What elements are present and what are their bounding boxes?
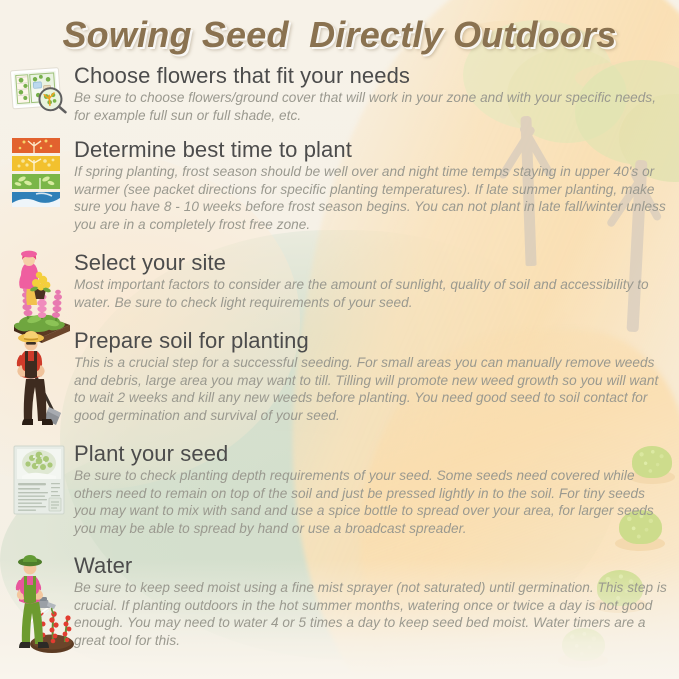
step-icon-slot bbox=[8, 327, 74, 437]
step-body: Be sure to choose flowers/ground cover t… bbox=[74, 89, 667, 125]
spring-bar bbox=[12, 174, 60, 189]
page-title: Sowing Seed Directly Outdoors bbox=[62, 14, 616, 56]
step-icon-slot bbox=[8, 249, 74, 327]
step-icon-slot bbox=[8, 440, 74, 550]
step-heading: Water bbox=[74, 554, 667, 578]
winter-bar bbox=[12, 192, 60, 207]
step-body: If spring planting, frost season should … bbox=[74, 163, 667, 234]
step-text: Prepare soil for planting This is a cruc… bbox=[74, 327, 667, 425]
step-heading: Select your site bbox=[74, 251, 667, 275]
step-body: Most important factors to consider are t… bbox=[74, 276, 667, 312]
seed-packet-icon bbox=[8, 440, 70, 524]
step-heading: Prepare soil for planting bbox=[74, 329, 667, 353]
step-heading: Plant your seed bbox=[74, 442, 667, 466]
four-seasons-bars-icon bbox=[8, 136, 66, 216]
gardener-watering-icon bbox=[8, 552, 74, 656]
step-item-select-site: Select your site Most important factors … bbox=[0, 249, 679, 327]
flower-spike bbox=[52, 290, 62, 321]
step-body: Be sure to check planting depth requirem… bbox=[74, 467, 667, 538]
step-body: Be sure to keep seed moist using a fine … bbox=[74, 579, 667, 650]
summer-bar bbox=[12, 156, 60, 171]
step-icon-slot bbox=[8, 552, 74, 664]
step-text: Water Be sure to keep seed moist using a… bbox=[74, 552, 667, 650]
step-body: This is a crucial step for a successful … bbox=[74, 354, 667, 425]
infographic-poster: Sowing Seed Directly Outdoors bbox=[0, 0, 679, 679]
step-heading: Determine best time to plant bbox=[74, 138, 667, 162]
step-text: Determine best time to plant If spring p… bbox=[74, 136, 667, 234]
step-item-choose-flowers: Choose flowers that fit your needs Be su… bbox=[0, 62, 679, 136]
title-bar: Sowing Seed Directly Outdoors bbox=[0, 14, 679, 56]
step-item-best-time: Determine best time to plant If spring p… bbox=[0, 136, 679, 249]
step-item-plant-seed: Plant your seed Be sure to check plantin… bbox=[0, 440, 679, 552]
autumn-bar bbox=[12, 138, 60, 153]
step-item-water: Water Be sure to keep seed moist using a… bbox=[0, 552, 679, 667]
garden-plan-map-icon bbox=[8, 62, 70, 124]
step-icon-slot bbox=[8, 136, 74, 236]
step-heading: Choose flowers that fit your needs bbox=[74, 64, 667, 88]
steps-list: Choose flowers that fit your needs Be su… bbox=[0, 62, 679, 667]
step-text: Select your site Most important factors … bbox=[74, 249, 667, 311]
step-text: Plant your seed Be sure to check plantin… bbox=[74, 440, 667, 538]
step-icon-slot bbox=[8, 62, 74, 136]
step-item-prepare-soil: Prepare soil for planting This is a cruc… bbox=[0, 327, 679, 440]
farmer-with-shovel-icon bbox=[8, 327, 70, 431]
step-text: Choose flowers that fit your needs Be su… bbox=[74, 62, 667, 124]
